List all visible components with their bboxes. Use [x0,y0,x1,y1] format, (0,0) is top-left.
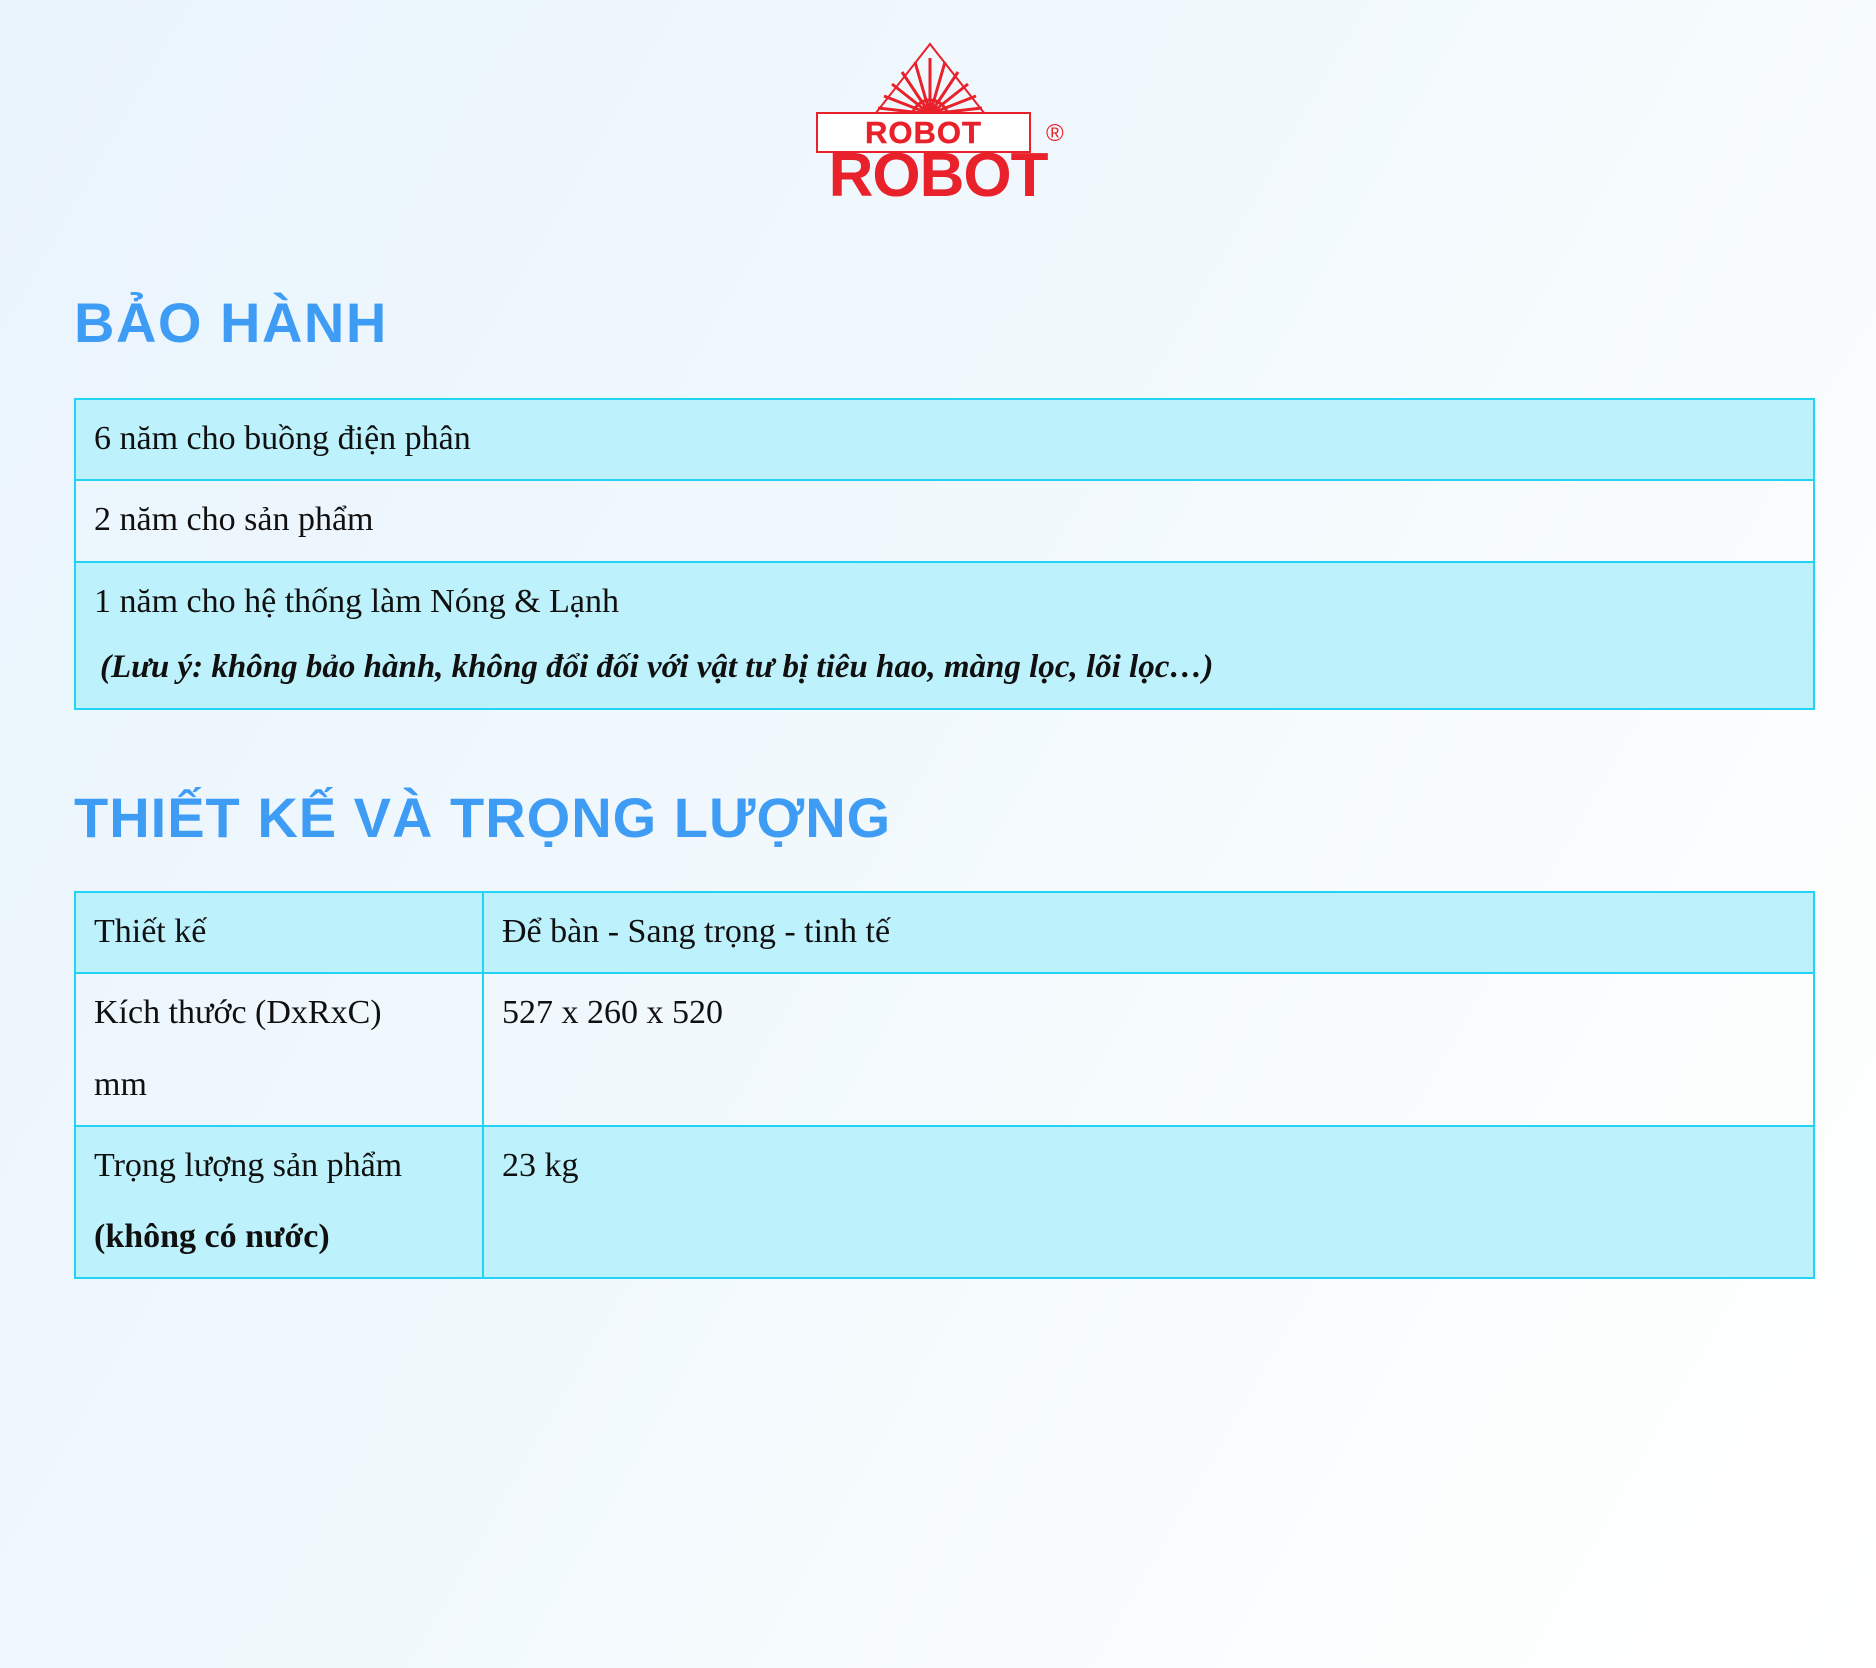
warranty-text-2: 2 năm cho sản phẩm [94,501,374,538]
design-value-cell: Để bàn - Sang trọng - tinh tế [483,892,1814,973]
design-label: Thiết kế [94,913,206,950]
warranty-cell-hotcold: 1 năm cho hệ thống làm Nóng & Lạnh (Lưu … [75,562,1814,709]
section-heading-design: THIẾT KẾ VÀ TRỌNG LƯỢNG [74,785,891,850]
table-row: Kích thước (DxRxC) mm 527 x 260 x 520 [75,973,1814,1126]
table-row: Thiết kế Để bàn - Sang trọng - tinh tế [75,892,1814,973]
weight-label-cell: Trọng lượng sản phẩm (không có nước) [75,1126,483,1279]
table-row: Trọng lượng sản phẩm (không có nước) 23 … [75,1126,1814,1279]
table-row: 6 năm cho buồng điện phân [75,399,1814,480]
dimensions-label-cell: Kích thước (DxRxC) mm [75,973,483,1126]
registered-trademark-icon: ® [1046,122,1064,146]
table-row: 2 năm cho sản phẩm [75,480,1814,561]
design-weight-table: Thiết kế Để bàn - Sang trọng - tinh tế K… [74,891,1815,1279]
warranty-cell-electrolysis: 6 năm cho buồng điện phân [75,399,1814,480]
logo-wordmark: ROBOT [783,145,1093,207]
dimensions-value: 527 x 260 x 520 [502,994,723,1031]
warranty-table: 6 năm cho buồng điện phân 2 năm cho sản … [74,398,1815,710]
dimensions-value-cell: 527 x 260 x 520 [483,973,1814,1126]
weight-value: 23 kg [502,1147,579,1184]
weight-label-note: (không có nước) [94,1212,464,1261]
sunburst-icon [870,42,990,120]
weight-value-cell: 23 kg [483,1126,1814,1279]
table-row: 1 năm cho hệ thống làm Nóng & Lạnh (Lưu … [75,562,1814,709]
brand-logo: ROBOT ROBOT ® [0,42,1876,192]
design-label-cell: Thiết kế [75,892,483,973]
section-heading-warranty: BẢO HÀNH [74,290,388,355]
design-value: Để bàn - Sang trọng - tinh tế [502,913,890,950]
dimensions-label: Kích thước (DxRxC) [94,994,382,1031]
dimensions-unit: mm [94,1060,464,1109]
warranty-text-3: 1 năm cho hệ thống làm Nóng & Lạnh [94,583,619,620]
warranty-cell-product: 2 năm cho sản phẩm [75,480,1814,561]
warranty-note: (Lưu ý: không bảo hành, không đổi đối vớ… [94,644,1795,692]
warranty-text-1: 6 năm cho buồng điện phân [94,420,471,457]
weight-label: Trọng lượng sản phẩm [94,1147,402,1184]
